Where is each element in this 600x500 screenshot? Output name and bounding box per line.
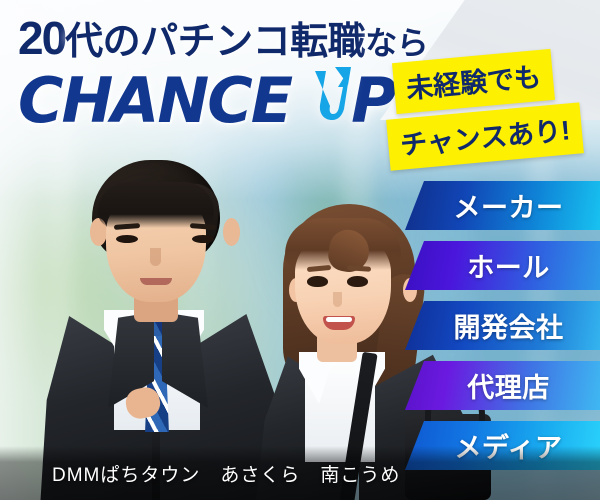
headline-tagline: 20代のパチンコ転職なら (18, 14, 438, 63)
man-eye-right (192, 235, 214, 243)
woman-eye-left (307, 276, 328, 287)
man-mouth (140, 278, 172, 285)
headline-main-text: 代のパチンコ転職 (65, 21, 365, 63)
woman-bangs (285, 218, 401, 270)
category-button-agency[interactable]: 代理店 (405, 361, 600, 410)
promo-badge-line-1: 未経験でも (392, 49, 555, 114)
logo-u-arrow-icon (305, 65, 355, 129)
category-label-agency: 代理店 (455, 366, 550, 405)
logo-chance-text: CHANCE (18, 72, 291, 129)
category-label-developer: 開発会社 (442, 306, 564, 345)
woman-eye-right (347, 276, 368, 287)
man-ear-right (223, 218, 240, 246)
category-button-list: メーカー ホール 開発会社 代理店 メディア (405, 181, 600, 481)
category-button-hall[interactable]: ホール (405, 241, 600, 290)
logo-chance-up: CHANCE P (18, 65, 438, 129)
promo-badge: 未経験でも チャンスあり! (388, 56, 596, 162)
headline-block: 20代のパチンコ転職なら CHANCE P (18, 14, 438, 129)
woman-nose (333, 292, 342, 307)
promo-badge-line-2: チャンスあり! (386, 102, 584, 170)
man-nose (150, 248, 161, 266)
category-button-maker[interactable]: メーカー (405, 181, 600, 230)
advertisement-banner[interactable]: 20代のパチンコ転職なら CHANCE P 未経験でも チャンスあり! メーカー… (0, 0, 600, 500)
category-label-hall: ホール (455, 246, 550, 285)
credit-strip: DMMぱちタウン あさくら 南こうめ (0, 446, 600, 500)
headline-age-number: 20 (18, 12, 65, 64)
man-eye-left (116, 235, 138, 243)
man-fringe (98, 182, 214, 228)
category-label-maker: メーカー (442, 186, 564, 225)
category-button-developer[interactable]: 開発会社 (405, 301, 600, 350)
credit-text: DMMぱちタウン あさくら 南こうめ (52, 460, 400, 487)
